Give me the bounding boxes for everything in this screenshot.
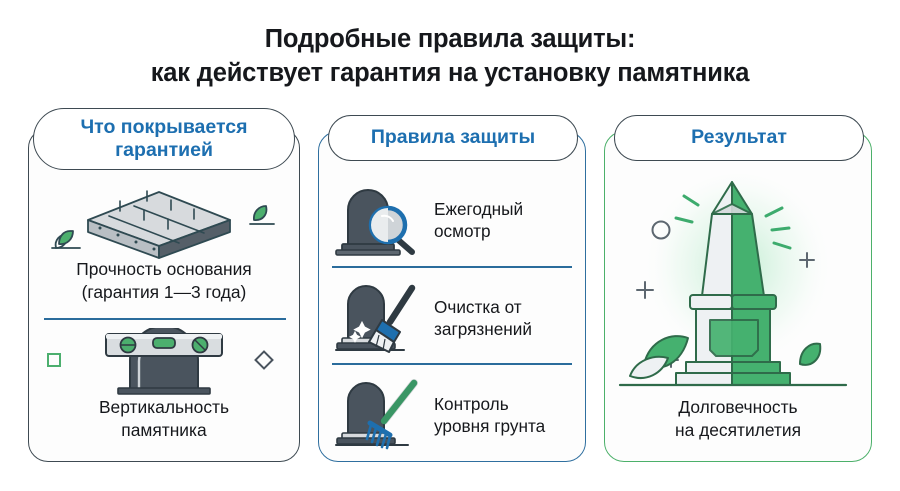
card-coverage-divider xyxy=(44,318,286,320)
card-result-header: Результат xyxy=(614,115,864,161)
card-coverage-header: Что покрывается гарантией xyxy=(33,108,295,170)
card-protection-rules-header: Правила защиты xyxy=(328,115,578,161)
row-ground-level-control: Контроль уровня грунта xyxy=(334,375,584,455)
row-cleaning: Очистка от загрязнений xyxy=(334,278,584,358)
caption-line-2: уровня грунта xyxy=(434,415,545,437)
caption-line-2: на десятилетия xyxy=(604,419,872,442)
caption-line-1: Прочность основания xyxy=(30,258,298,281)
spirit-level-on-headstone-icon xyxy=(40,328,288,396)
page-title: Подробные правила защиты: как действует … xyxy=(0,22,900,90)
caption-line-1: Очистка от xyxy=(434,296,532,318)
caption-line-1: Контроль xyxy=(434,393,545,415)
title-line-1: Подробные правила защиты: xyxy=(265,25,636,53)
card-coverage-header-label: Что покрывается гарантией xyxy=(34,116,294,163)
caption-line-1: Ежегодный xyxy=(434,198,523,220)
caption-annual-inspection: Ежегодный осмотр xyxy=(434,198,523,243)
caption-foundation-strength: Прочность основания (гарантия 1—3 года) xyxy=(30,258,298,304)
caption-line-1: Долговечность xyxy=(604,396,872,419)
title-line-2: как действует гарантия на установку памя… xyxy=(0,56,900,90)
magnifier-on-headstone-icon xyxy=(334,182,426,258)
caption-line-2: (гарантия 1—3 года) xyxy=(30,281,298,304)
concrete-foundation-icon xyxy=(34,178,294,262)
green-obelisk-monument-icon xyxy=(614,168,862,390)
infographic-page: Подробные правила защиты: как действует … xyxy=(0,0,900,491)
caption-monument-verticality: Вертикальность памятника xyxy=(30,396,298,442)
card-protection-divider-2 xyxy=(332,363,572,365)
caption-ground-level-control: Контроль уровня грунта xyxy=(434,393,545,438)
card-protection-rules-header-label: Правила защиты xyxy=(371,126,535,149)
caption-line-2: осмотр xyxy=(434,220,523,242)
caption-line-1: Вертикальность xyxy=(30,396,298,419)
card-protection-divider-1 xyxy=(332,266,572,268)
rake-ground-level-icon xyxy=(334,377,426,453)
caption-line-2: загрязнений xyxy=(434,318,532,340)
card-result-header-label: Результат xyxy=(691,126,787,149)
row-annual-inspection: Ежегодный осмотр xyxy=(334,180,584,260)
broom-cleaning-headstone-icon xyxy=(334,280,426,356)
caption-durability: Долговечность на десятилетия xyxy=(604,396,872,442)
caption-line-2: памятника xyxy=(30,419,298,442)
caption-cleaning: Очистка от загрязнений xyxy=(434,296,532,341)
